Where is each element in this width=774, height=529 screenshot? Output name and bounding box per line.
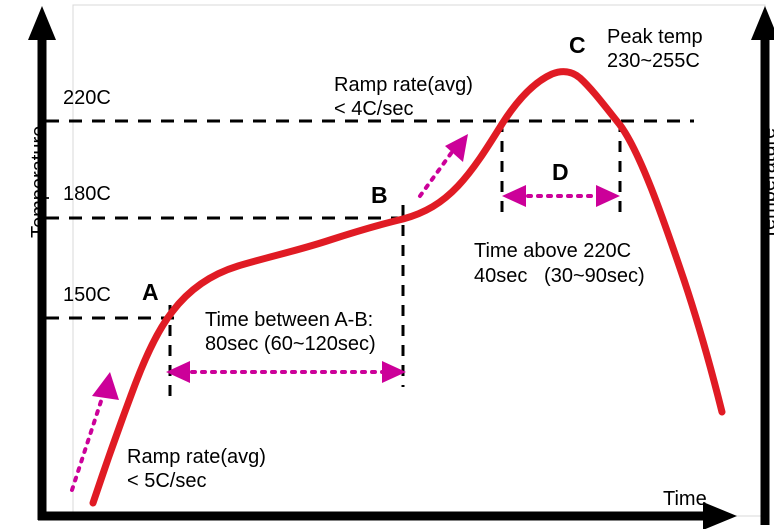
time-above-220c-note-line1: Time above 220C xyxy=(474,240,631,262)
y-axis-right-title: Temperature xyxy=(758,128,774,240)
point-label-a: A xyxy=(142,280,159,306)
x-axis-title: Time xyxy=(663,488,707,510)
y-axis-left xyxy=(28,6,56,520)
point-label-b: B xyxy=(371,183,388,209)
point-label-c: C xyxy=(569,33,586,59)
point-label-d: D xyxy=(552,160,569,186)
time-above-220c-note-line2: 40sec (30~90sec) xyxy=(474,265,645,287)
peak-temp-note-line1: Peak temp xyxy=(607,26,703,48)
reflow-ramp-note-line2: < 4C/sec xyxy=(334,98,413,120)
tick-label-150c: 150C xyxy=(63,284,111,306)
reflow-ramp-note-line1: Ramp rate(avg) xyxy=(334,74,473,96)
preheat-ramp-note-line1: Ramp rate(avg) xyxy=(127,446,266,468)
peak-temp-note-line2: 230~255C xyxy=(607,50,700,72)
soak-duration-note-line2: 80sec (60~120sec) xyxy=(205,333,376,355)
y-axis-left-title: Temperature xyxy=(28,126,50,238)
preheat-ramp-note-line2: < 5C/sec xyxy=(127,470,206,492)
reflow-profile-figure: Temperature Temperature Time 220C 180C 1… xyxy=(0,0,774,529)
soak-duration-note-line1: Time between A-B: xyxy=(205,309,373,331)
tick-label-220c: 220C xyxy=(63,87,111,109)
tick-label-180c: 180C xyxy=(63,183,111,205)
